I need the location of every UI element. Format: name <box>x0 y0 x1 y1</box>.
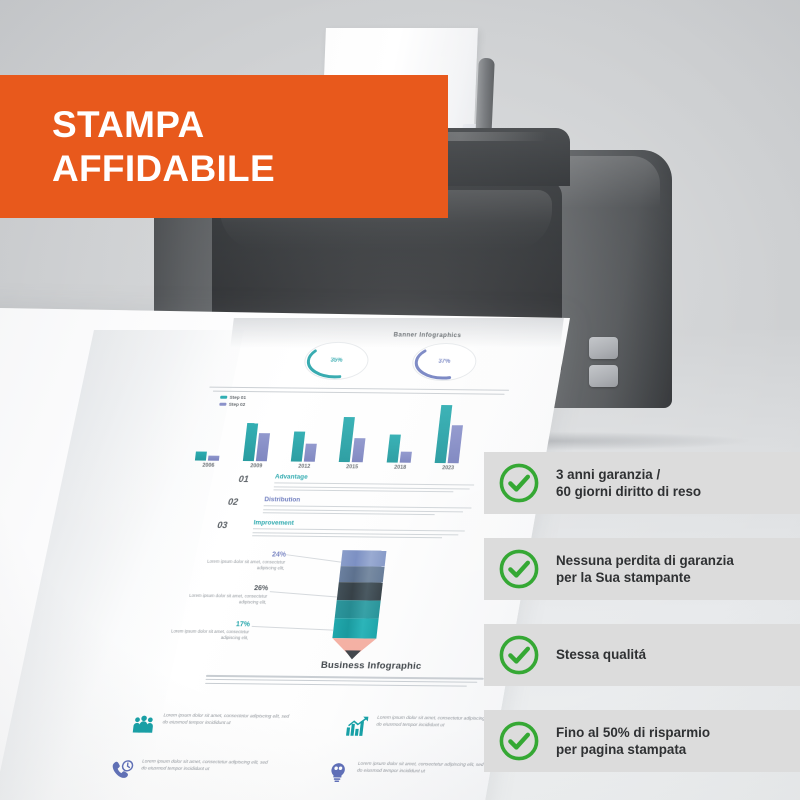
icon-cell-text: Lorem ipsum dolor sit amet, consectetur … <box>162 713 296 729</box>
feature-badge-list: 3 anni garanzia / 60 giorni diritto di r… <box>484 452 800 796</box>
callout-percent: 24% <box>190 551 287 559</box>
callout-percent: 26% <box>172 584 269 592</box>
bar-step02 <box>448 425 463 463</box>
pencil-callout-1: 24% Lorem ipsum dolor sit amet, consecte… <box>188 551 286 573</box>
pencil-tip-lead <box>344 650 361 659</box>
bar-x-tick-label: 2015 <box>332 464 373 470</box>
printer-button-top[interactable] <box>589 337 618 359</box>
business-infographic-paragraph <box>205 675 486 690</box>
callout-text: Lorem ipsum dolor sit amet, consectetur … <box>152 628 249 642</box>
poster-canvas: Banner Infographics 35% 37% <box>0 0 800 800</box>
group-people-icon <box>131 714 155 734</box>
check-circle-icon <box>498 548 540 590</box>
bar-step01 <box>291 432 305 462</box>
lightbulb-icon <box>326 762 350 782</box>
pencil-callout-2: 26% Lorem ipsum dolor sit amet, consecte… <box>170 584 268 606</box>
bar-x-tick-label: 2006 <box>188 462 229 468</box>
bar-step02 <box>256 433 270 461</box>
step-title: Distribution <box>264 496 301 503</box>
icon-row-bottom: Lorem ipsum dolor sit amet, consectetur … <box>121 758 461 762</box>
bar-step02 <box>400 452 412 463</box>
bar-step02 <box>352 438 366 462</box>
bar-step01 <box>387 435 401 463</box>
icon-cell-4: Lorem ipsum dolor sit amet, consectetur … <box>328 760 496 762</box>
callout-text: Lorem ipsum dolor sit amet, consectetur … <box>170 592 267 606</box>
step-number: 03 <box>217 520 228 530</box>
bar-chart: 200620092012201520182023 <box>189 398 516 463</box>
bar-x-tick-label: 2009 <box>236 463 277 469</box>
step-title: Improvement <box>253 519 294 526</box>
icon-cell-3: Lorem ipsum dolor sit amet, consectetur … <box>113 758 281 760</box>
page-title: STAMPAAFFIDABILE <box>52 103 275 190</box>
donut-label-2: 37% <box>410 343 478 382</box>
icon-cell-1: Lorem ipsum dolor sit amet, consectetur … <box>134 712 302 714</box>
step-item-02: 02 Distribution <box>226 496 490 522</box>
infographic-content: Banner Infographics 35% 37% <box>126 326 540 800</box>
headline-line-2: AFFIDABILE <box>52 148 275 189</box>
icon-cell-text: Lorem ipsum dolor sit amet, consectetur … <box>141 758 275 774</box>
feature-badge-label: Stessa qualitá <box>556 646 646 663</box>
icon-cell-text: Lorem ipsum dolor sit amet, consectetur … <box>357 761 491 777</box>
headline-banner: STAMPAAFFIDABILE <box>0 75 448 218</box>
bar-x-tick-label: 2018 <box>380 464 421 470</box>
donut-label-1: 35% <box>302 342 370 381</box>
check-circle-icon <box>498 720 540 762</box>
infographic-title: Banner Infographics <box>337 331 518 340</box>
printer-button-bottom[interactable] <box>589 365 618 387</box>
pencil-callout-3: 17% Lorem ipsum dolor sit amet, consecte… <box>152 620 250 642</box>
bar-x-tick-label: 2012 <box>284 463 325 469</box>
step-item-01: 01 Advantage <box>237 473 493 499</box>
step-number: 01 <box>238 474 249 484</box>
step-title: Advantage <box>275 473 308 480</box>
business-infographic-title: Business Infographic <box>261 659 482 672</box>
feature-badge: Stessa qualitá <box>484 624 800 686</box>
bar-x-tick-label: 2023 <box>428 465 469 471</box>
pencil-funnel-graphic <box>330 550 386 658</box>
bar-step02 <box>304 444 317 462</box>
bar-step02 <box>208 456 220 461</box>
bar-step01 <box>195 452 207 461</box>
callout-percent: 17% <box>154 620 251 628</box>
callout-text: Lorem ipsum dolor sit amet, consectetur … <box>188 559 285 573</box>
feature-badge-label: 3 anni garanzia / 60 giorni diritto di r… <box>556 466 701 500</box>
check-circle-icon <box>498 634 540 676</box>
check-circle-icon <box>498 462 540 504</box>
feature-badge: Nessuna perdita di garanzia per la Sua s… <box>484 538 800 600</box>
icon-row-top: Lorem ipsum dolor sit amet, consectetur … <box>126 712 466 716</box>
step-item-03: 03 Improvement <box>215 519 487 545</box>
headline-line-1: STAMPA <box>52 104 205 145</box>
feature-badge-label: Nessuna perdita di garanzia per la Sua s… <box>556 552 734 586</box>
bar-chart-growth-icon <box>345 716 369 736</box>
feature-badge: 3 anni garanzia / 60 giorni diritto di r… <box>484 452 800 514</box>
feature-badge-label: Fino al 50% di risparmio per pagina stam… <box>556 724 710 758</box>
donut-chart-1: 35% <box>302 342 370 381</box>
step-number: 02 <box>228 497 239 507</box>
donut-chart-group: 35% 37% <box>302 342 507 386</box>
feature-badge: Fino al 50% di risparmio per pagina stam… <box>484 710 800 772</box>
phone-clock-icon <box>110 760 134 780</box>
numbered-step-list: 01 Advantage 02 Distribution 03 Improvem… <box>215 473 493 545</box>
donut-chart-2: 37% <box>410 343 478 382</box>
